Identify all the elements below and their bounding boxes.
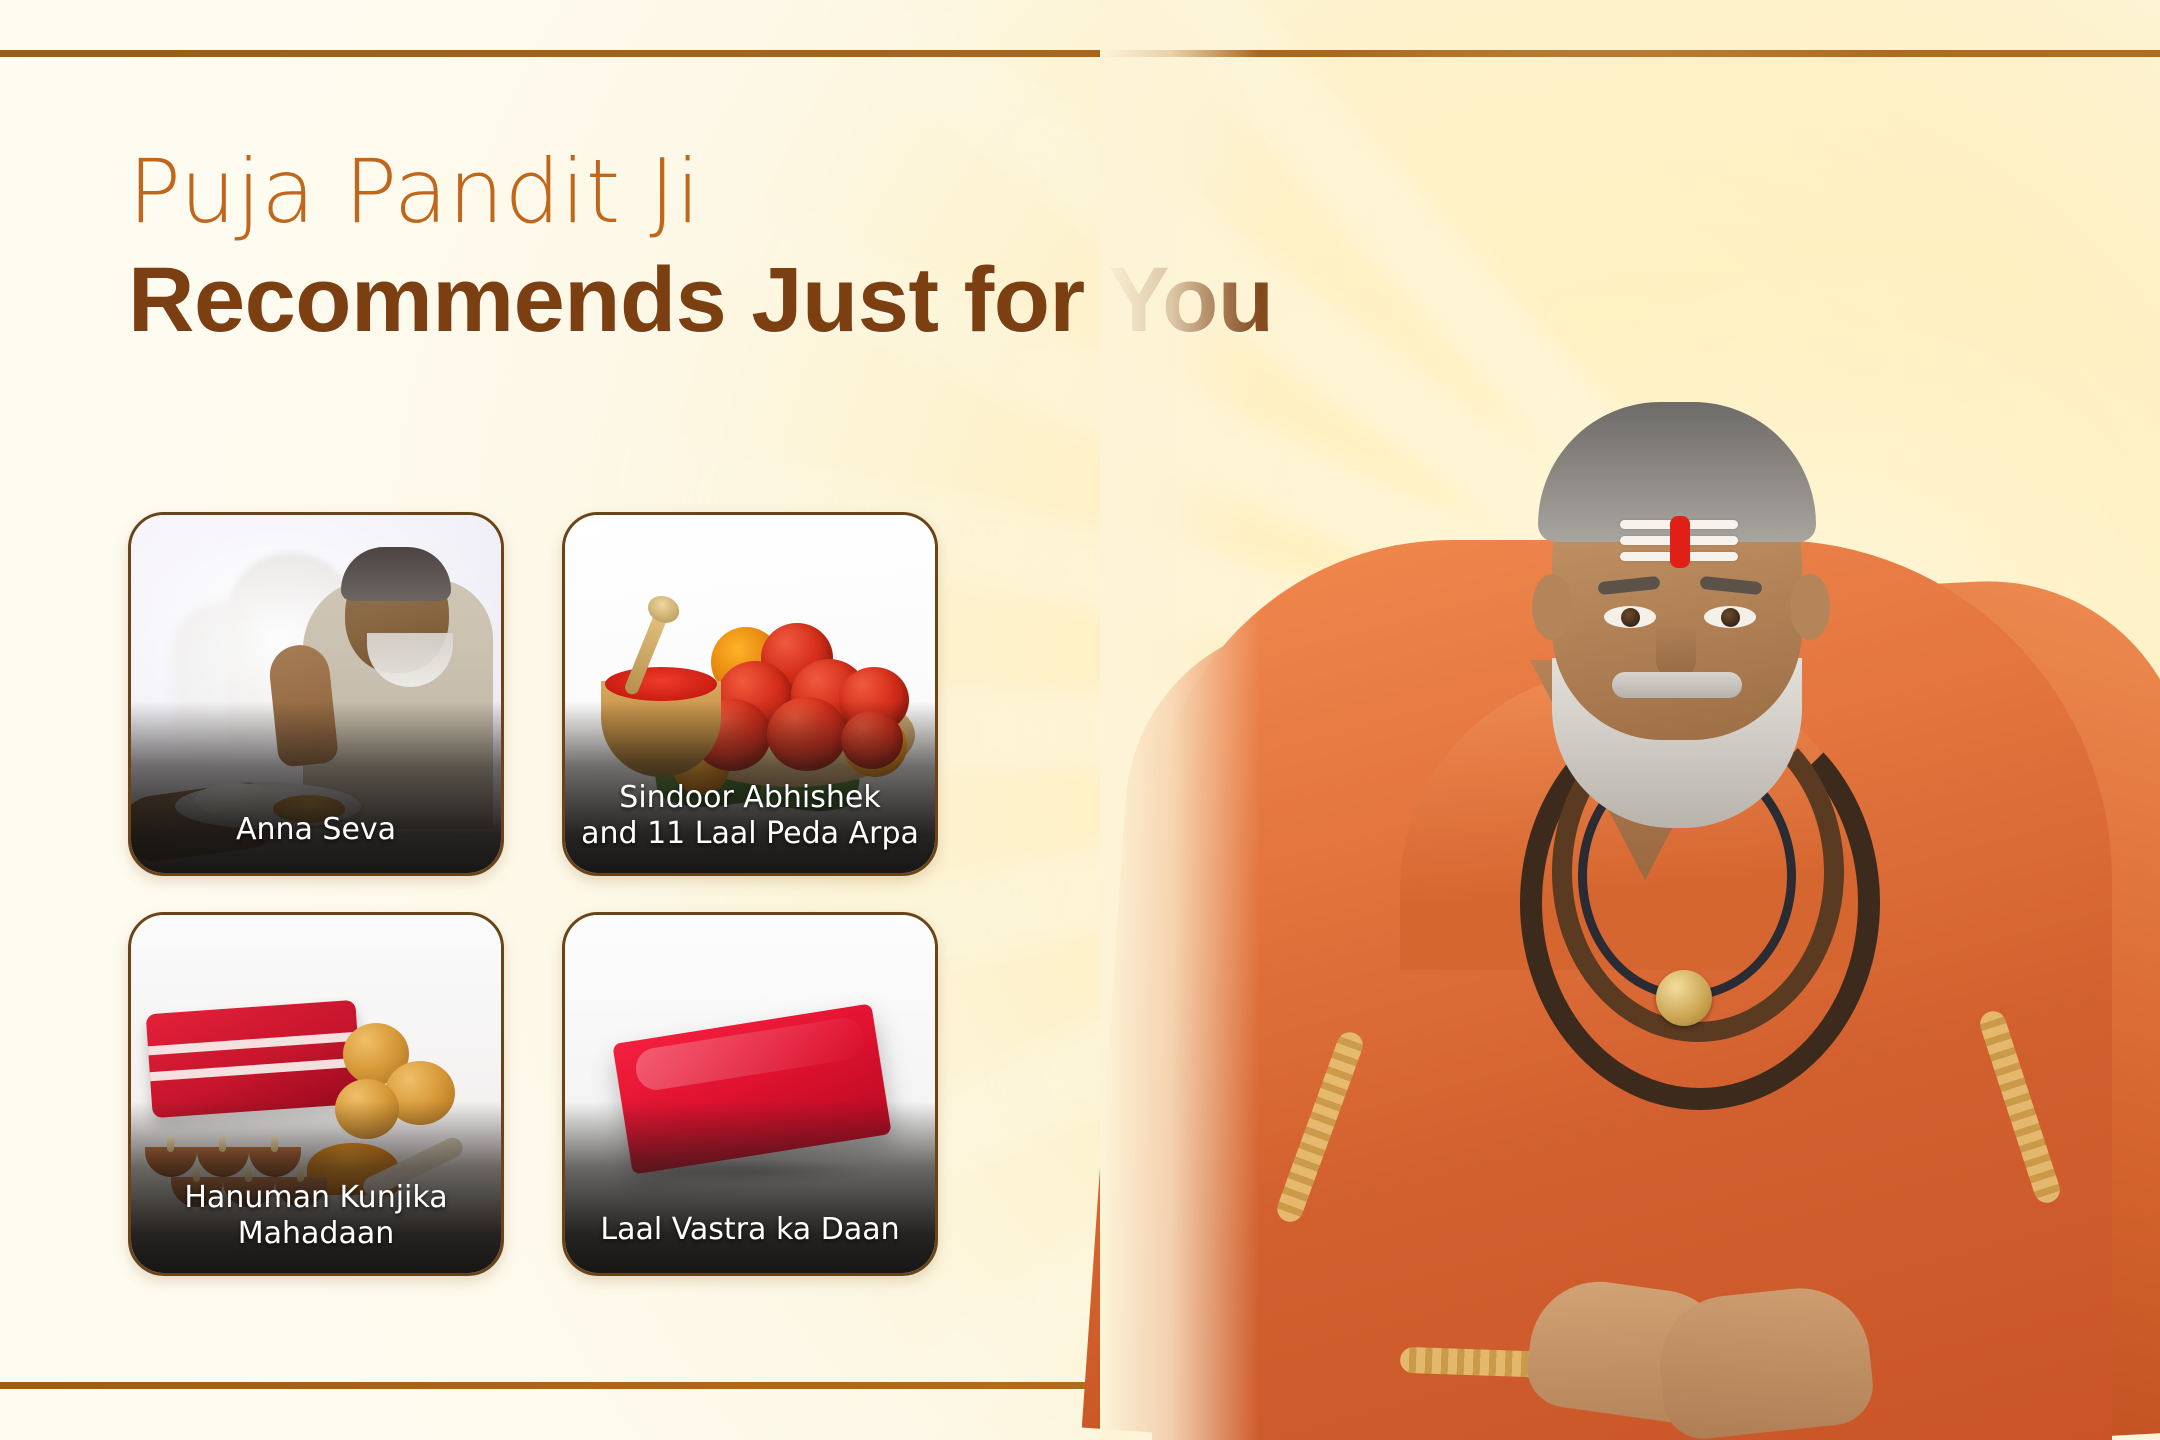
card-caption: Sindoor Abhishek and 11 Laal Peda Arpa [579, 780, 921, 851]
card-caption: Laal Vastra ka Daan [579, 1212, 921, 1247]
pandit-ji-portrait [1100, 0, 2160, 1440]
card-laal-vastra[interactable]: Laal Vastra ka Daan [562, 912, 938, 1276]
card-row-2: Hanuman Kunjika Mahadaan Laal Vastra ka … [128, 912, 948, 1276]
tripundra-tilak-icon [1620, 518, 1738, 564]
card-sindoor-abhishek[interactable]: Sindoor Abhishek and 11 Laal Peda Arpa [562, 512, 938, 876]
card-scrim [131, 701, 501, 873]
card-anna-seva[interactable]: Anna Seva [128, 512, 504, 876]
card-hanuman-kunjika[interactable]: Hanuman Kunjika Mahadaan [128, 912, 504, 1276]
bottom-divider-rule [0, 1382, 1205, 1389]
recommendation-card-grid: Anna Seva [128, 512, 948, 1276]
card-scrim [565, 1101, 935, 1273]
card-row-1: Anna Seva [128, 512, 948, 876]
pendant-icon [1656, 970, 1712, 1026]
card-caption: Hanuman Kunjika Mahadaan [145, 1180, 487, 1251]
card-caption: Anna Seva [145, 812, 487, 847]
promo-banner: Puja Pandit Ji Recommends Just for You [0, 0, 2160, 1440]
